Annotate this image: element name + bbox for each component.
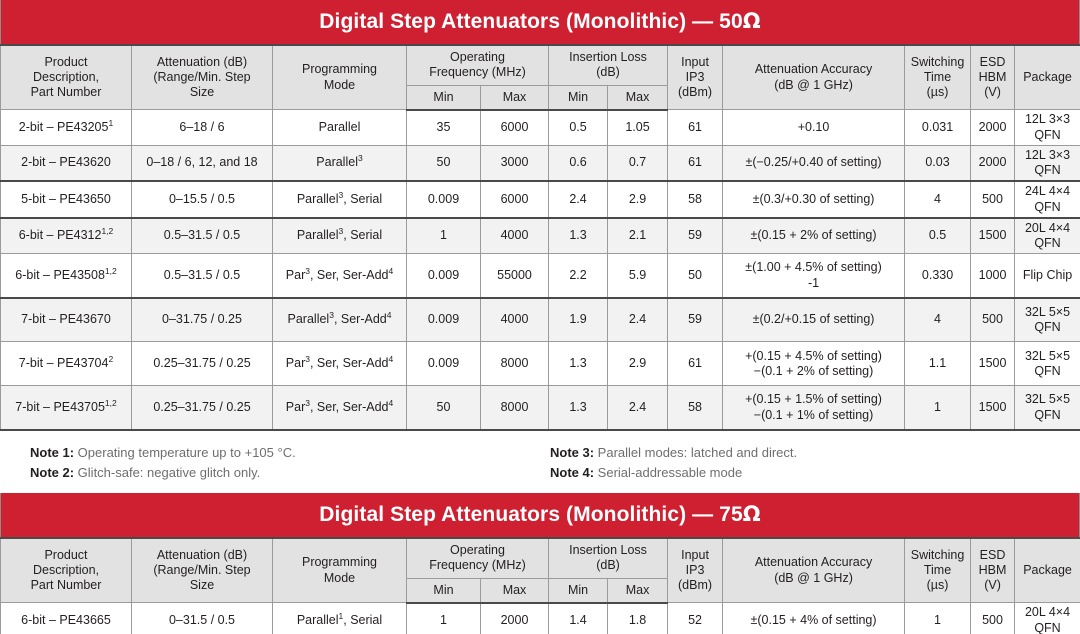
cell-switching-time: 0.5 xyxy=(905,218,971,254)
cell-attenuation-range: 6–18 / 6 xyxy=(132,110,273,146)
table-row: 5-bit – PE436500–15.5 / 0.5Parallel3, Se… xyxy=(1,181,1080,218)
col-header-input-ip3: Input IP3 (dBm) xyxy=(668,538,723,603)
cell-insertion-loss-max: 2.1 xyxy=(608,218,668,254)
footnote-marker: 1,2 xyxy=(101,226,113,236)
cell-programming-mode: Par3, Ser, Ser-Add4 xyxy=(273,254,407,298)
cell-switching-time: 1 xyxy=(905,386,971,430)
cell-esd-hbm: 1000 xyxy=(971,254,1015,298)
accuracy-line-2: −(0.1 + 1% of setting) xyxy=(726,408,901,423)
cell-attenuation-range: 0–18 / 6, 12, and 18 xyxy=(132,145,273,181)
cell-attenuation-accuracy: +(0.15 + 4.5% of setting)−(0.1 + 2% of s… xyxy=(723,342,905,386)
cell-part-number: 6-bit – PE435081,2 xyxy=(1,254,132,298)
cell-freq-max: 8000 xyxy=(481,342,549,386)
col-header-attenuation: Attenuation (dB) (Range/Min. Step Size xyxy=(132,45,273,110)
cell-insertion-loss-min: 1.3 xyxy=(549,218,608,254)
cell-part-number: 7-bit – PE437042 xyxy=(1,342,132,386)
footnote-marker: 3 xyxy=(339,190,344,200)
cell-input-ip3: 58 xyxy=(668,181,723,218)
footnote-marker: 4 xyxy=(388,354,393,364)
cell-esd-hbm: 1500 xyxy=(971,218,1015,254)
col-header-input-ip3: Input IP3 (dBm) xyxy=(668,45,723,110)
cell-switching-time: 0.03 xyxy=(905,145,971,181)
table-row: 7-bit – PE436700–31.75 / 0.25Parallel3, … xyxy=(1,298,1080,342)
col-header-il-min: Min xyxy=(549,85,608,110)
col-header-programming-mode: Programming Mode xyxy=(273,45,407,110)
cell-insertion-loss-min: 1.9 xyxy=(549,298,608,342)
cell-freq-max: 55000 xyxy=(481,254,549,298)
col-header-insertion-loss: Insertion Loss (dB) xyxy=(549,45,668,85)
cell-freq-min: 0.009 xyxy=(407,342,481,386)
cell-freq-max: 2000 xyxy=(481,603,549,634)
ohm-symbol-50: Ω xyxy=(743,9,761,33)
cell-input-ip3: 58 xyxy=(668,386,723,430)
col-header-il-max: Max xyxy=(608,85,668,110)
table-row: 6-bit – PE435081,20.5–31.5 / 0.5Par3, Se… xyxy=(1,254,1080,298)
cell-switching-time: 1.1 xyxy=(905,342,971,386)
accuracy-line-1: ±(0.3/+0.30 of setting) xyxy=(726,192,901,207)
col-header-product: Product Description, Part Number xyxy=(1,538,132,603)
note-line: Note 2: Glitch-safe: negative glitch onl… xyxy=(30,463,550,483)
cell-part-number: 7-bit – PE437051,2 xyxy=(1,386,132,430)
cell-freq-min: 0.009 xyxy=(407,298,481,342)
accuracy-line-1: ±(0.2/+0.15 of setting) xyxy=(726,312,901,327)
cell-insertion-loss-min: 1.4 xyxy=(549,603,608,634)
cell-input-ip3: 61 xyxy=(668,145,723,181)
footnote-marker: 4 xyxy=(387,310,392,320)
spec-table-75ohm: Product Description, Part Number Attenua… xyxy=(0,537,1080,634)
cell-programming-mode: Parallel3, Serial xyxy=(273,218,407,254)
footnote-marker: 4 xyxy=(388,398,393,408)
accuracy-line-1: +(0.15 + 1.5% of setting) xyxy=(726,392,901,407)
cell-package: 12L 3×3 QFN xyxy=(1015,145,1080,181)
cell-attenuation-range: 0.25–31.75 / 0.25 xyxy=(132,386,273,430)
note-text: Parallel modes: latched and direct. xyxy=(594,445,797,460)
cell-attenuation-accuracy: +0.10 xyxy=(723,110,905,146)
table-row: 2-bit – PE4320516–18 / 6Parallel3560000.… xyxy=(1,110,1080,146)
cell-insertion-loss-max: 2.9 xyxy=(608,181,668,218)
cell-switching-time: 1 xyxy=(905,603,971,634)
table-row: 6-bit – PE43121,20.5–31.5 / 0.5Parallel3… xyxy=(1,218,1080,254)
cell-freq-max: 8000 xyxy=(481,386,549,430)
col-header-freq-max: Max xyxy=(481,578,549,603)
note-text: Glitch-safe: negative glitch only. xyxy=(74,465,260,480)
cell-attenuation-accuracy: ±(0.2/+0.15 of setting) xyxy=(723,298,905,342)
col-header-freq-min: Min xyxy=(407,578,481,603)
cell-freq-max: 6000 xyxy=(481,110,549,146)
cell-attenuation-range: 0–31.75 / 0.25 xyxy=(132,298,273,342)
table-body-75ohm: 6-bit – PE436650–31.5 / 0.5Parallel1, Se… xyxy=(1,603,1080,634)
col-header-esd-hbm: ESD HBM (V) xyxy=(971,45,1015,110)
cell-attenuation-accuracy: ±(0.15 + 2% of setting) xyxy=(723,218,905,254)
note-text: Serial-addressable mode xyxy=(594,465,742,480)
ohm-symbol-75: Ω xyxy=(743,502,761,526)
footnote-marker: 1 xyxy=(339,611,344,621)
col-header-operating-frequency: Operating Frequency (MHz) xyxy=(407,538,549,578)
spec-table-50ohm: Product Description, Part Number Attenua… xyxy=(0,44,1080,431)
note-label: Note 3: xyxy=(550,445,594,460)
col-header-switching-time: Switching Time (µs) xyxy=(905,45,971,110)
cell-insertion-loss-min: 1.3 xyxy=(549,386,608,430)
col-header-freq-min: Min xyxy=(407,85,481,110)
cell-freq-max: 4000 xyxy=(481,218,549,254)
col-header-product: Product Description, Part Number xyxy=(1,45,132,110)
cell-freq-min: 50 xyxy=(407,386,481,430)
cell-attenuation-range: 0.25–31.75 / 0.25 xyxy=(132,342,273,386)
cell-esd-hbm: 500 xyxy=(971,298,1015,342)
cell-freq-max: 4000 xyxy=(481,298,549,342)
accuracy-line-1: ±(−0.25/+0.40 of setting) xyxy=(726,155,901,170)
cell-esd-hbm: 2000 xyxy=(971,110,1015,146)
table-row: 7-bit – PE4370420.25–31.75 / 0.25Par3, S… xyxy=(1,342,1080,386)
cell-freq-min: 1 xyxy=(407,603,481,634)
cell-esd-hbm: 2000 xyxy=(971,145,1015,181)
note-label: Note 1: xyxy=(30,445,74,460)
cell-insertion-loss-max: 1.05 xyxy=(608,110,668,146)
cell-input-ip3: 52 xyxy=(668,603,723,634)
table-head-50ohm: Product Description, Part Number Attenua… xyxy=(1,45,1080,110)
footnote-marker: 3 xyxy=(339,226,344,236)
cell-package: 12L 3×3 QFN xyxy=(1015,110,1080,146)
cell-insertion-loss-min: 2.4 xyxy=(549,181,608,218)
table-title-75ohm-text: Digital Step Attenuators (Monolithic) — … xyxy=(319,503,742,526)
cell-insertion-loss-max: 2.9 xyxy=(608,342,668,386)
accuracy-line-1: ±(0.15 + 4% of setting) xyxy=(726,613,901,628)
cell-esd-hbm: 1500 xyxy=(971,342,1015,386)
accuracy-line-1: ±(1.00 + 4.5% of setting) xyxy=(726,260,901,275)
accuracy-line-1: +(0.15 + 4.5% of setting) xyxy=(726,349,901,364)
cell-programming-mode: Parallel3, Serial xyxy=(273,181,407,218)
note-text: Operating temperature up to +105 °C. xyxy=(74,445,296,460)
accuracy-line-2: -1 xyxy=(726,276,901,291)
col-header-attenuation: Attenuation (dB) (Range/Min. Step Size xyxy=(132,538,273,603)
accuracy-line-1: ±(0.15 + 2% of setting) xyxy=(726,228,901,243)
note-line: Note 3: Parallel modes: latched and dire… xyxy=(550,443,1070,463)
col-header-attenuation-accuracy: Attenuation Accuracy (dB @ 1 GHz) xyxy=(723,538,905,603)
note-line: Note 4: Serial-addressable mode xyxy=(550,463,1070,483)
cell-attenuation-range: 0.5–31.5 / 0.5 xyxy=(132,254,273,298)
table-title-75ohm: Digital Step Attenuators (Monolithic) — … xyxy=(0,493,1080,537)
cell-package: 24L 4×4 QFN xyxy=(1015,181,1080,218)
cell-attenuation-accuracy: ±(1.00 + 4.5% of setting)-1 xyxy=(723,254,905,298)
col-header-switching-time: Switching Time (µs) xyxy=(905,538,971,603)
footnote-marker: 1,2 xyxy=(105,266,117,276)
footnote-marker: 4 xyxy=(388,266,393,276)
cell-package: 32L 5×5 QFN xyxy=(1015,386,1080,430)
cell-freq-min: 0.009 xyxy=(407,181,481,218)
col-header-operating-frequency: Operating Frequency (MHz) xyxy=(407,45,549,85)
cell-freq-max: 3000 xyxy=(481,145,549,181)
footnote-marker: 3 xyxy=(358,153,363,163)
notes-column-right: Note 3: Parallel modes: latched and dire… xyxy=(550,443,1070,483)
cell-switching-time: 0.031 xyxy=(905,110,971,146)
footnote-marker: 1,2 xyxy=(105,398,117,408)
table-title-50ohm-text: Digital Step Attenuators (Monolithic) — … xyxy=(319,10,742,33)
col-header-attenuation-accuracy: Attenuation Accuracy (dB @ 1 GHz) xyxy=(723,45,905,110)
cell-insertion-loss-max: 2.4 xyxy=(608,386,668,430)
cell-insertion-loss-max: 2.4 xyxy=(608,298,668,342)
footnote-marker: 3 xyxy=(305,266,310,276)
col-header-il-max: Max xyxy=(608,578,668,603)
col-header-programming-mode: Programming Mode xyxy=(273,538,407,603)
accuracy-line-1: +0.10 xyxy=(726,120,901,135)
cell-esd-hbm: 500 xyxy=(971,603,1015,634)
cell-attenuation-accuracy: ±(−0.25/+0.40 of setting) xyxy=(723,145,905,181)
col-header-insertion-loss: Insertion Loss (dB) xyxy=(549,538,668,578)
cell-switching-time: 0.330 xyxy=(905,254,971,298)
cell-input-ip3: 61 xyxy=(668,342,723,386)
cell-freq-min: 1 xyxy=(407,218,481,254)
note-label: Note 2: xyxy=(30,465,74,480)
cell-part-number: 6-bit – PE43665 xyxy=(1,603,132,634)
cell-freq-min: 0.009 xyxy=(407,254,481,298)
footnote-marker: 3 xyxy=(305,354,310,364)
note-line: Note 1: Operating temperature up to +105… xyxy=(30,443,550,463)
cell-switching-time: 4 xyxy=(905,181,971,218)
note-label: Note 4: xyxy=(550,465,594,480)
cell-attenuation-range: 0–31.5 / 0.5 xyxy=(132,603,273,634)
cell-insertion-loss-max: 0.7 xyxy=(608,145,668,181)
table-title-50ohm: Digital Step Attenuators (Monolithic) — … xyxy=(0,0,1080,44)
cell-attenuation-accuracy: +(0.15 + 1.5% of setting)−(0.1 + 1% of s… xyxy=(723,386,905,430)
cell-input-ip3: 59 xyxy=(668,298,723,342)
cell-programming-mode: Parallel3, Ser-Add4 xyxy=(273,298,407,342)
col-header-esd-hbm: ESD HBM (V) xyxy=(971,538,1015,603)
cell-input-ip3: 50 xyxy=(668,254,723,298)
col-header-freq-max: Max xyxy=(481,85,549,110)
datasheet-page: Digital Step Attenuators (Monolithic) — … xyxy=(0,0,1080,634)
footnote-marker: 2 xyxy=(108,354,113,364)
cell-insertion-loss-min: 1.3 xyxy=(549,342,608,386)
cell-attenuation-range: 0–15.5 / 0.5 xyxy=(132,181,273,218)
cell-insertion-loss-min: 2.2 xyxy=(549,254,608,298)
cell-input-ip3: 59 xyxy=(668,218,723,254)
cell-part-number: 2-bit – PE43620 xyxy=(1,145,132,181)
notes-50ohm: Note 1: Operating temperature up to +105… xyxy=(0,431,1080,493)
cell-insertion-loss-max: 1.8 xyxy=(608,603,668,634)
cell-package: Flip Chip xyxy=(1015,254,1080,298)
cell-freq-min: 50 xyxy=(407,145,481,181)
cell-freq-max: 6000 xyxy=(481,181,549,218)
cell-part-number: 6-bit – PE43121,2 xyxy=(1,218,132,254)
table-row: 2-bit – PE436200–18 / 6, 12, and 18Paral… xyxy=(1,145,1080,181)
table-row: 7-bit – PE437051,20.25–31.75 / 0.25Par3,… xyxy=(1,386,1080,430)
footnote-marker: 3 xyxy=(305,398,310,408)
cell-esd-hbm: 500 xyxy=(971,181,1015,218)
cell-programming-mode: Parallel xyxy=(273,110,407,146)
cell-package: 20L 4×4 QFN xyxy=(1015,603,1080,634)
cell-insertion-loss-min: 0.6 xyxy=(549,145,608,181)
cell-attenuation-accuracy: ±(0.15 + 4% of setting) xyxy=(723,603,905,634)
cell-part-number: 7-bit – PE43670 xyxy=(1,298,132,342)
table-head-75ohm: Product Description, Part Number Attenua… xyxy=(1,538,1080,603)
cell-input-ip3: 61 xyxy=(668,110,723,146)
cell-esd-hbm: 1500 xyxy=(971,386,1015,430)
cell-part-number: 2-bit – PE432051 xyxy=(1,110,132,146)
cell-part-number: 5-bit – PE43650 xyxy=(1,181,132,218)
table-row: 6-bit – PE436650–31.5 / 0.5Parallel1, Se… xyxy=(1,603,1080,634)
col-header-package: Package xyxy=(1015,538,1080,603)
cell-package: 32L 5×5 QFN xyxy=(1015,298,1080,342)
cell-attenuation-range: 0.5–31.5 / 0.5 xyxy=(132,218,273,254)
table-body-50ohm: 2-bit – PE4320516–18 / 6Parallel3560000.… xyxy=(1,110,1080,430)
cell-freq-min: 35 xyxy=(407,110,481,146)
accuracy-line-2: −(0.1 + 2% of setting) xyxy=(726,364,901,379)
cell-insertion-loss-min: 0.5 xyxy=(549,110,608,146)
col-header-il-min: Min xyxy=(549,578,608,603)
cell-package: 32L 5×5 QFN xyxy=(1015,342,1080,386)
cell-attenuation-accuracy: ±(0.3/+0.30 of setting) xyxy=(723,181,905,218)
col-header-package: Package xyxy=(1015,45,1080,110)
cell-package: 20L 4×4 QFN xyxy=(1015,218,1080,254)
footnote-marker: 3 xyxy=(329,310,334,320)
cell-insertion-loss-max: 5.9 xyxy=(608,254,668,298)
footnote-marker: 1 xyxy=(108,118,113,128)
cell-programming-mode: Parallel3 xyxy=(273,145,407,181)
cell-programming-mode: Par3, Ser, Ser-Add4 xyxy=(273,386,407,430)
notes-column-left: Note 1: Operating temperature up to +105… xyxy=(30,443,550,483)
cell-programming-mode: Par3, Ser, Ser-Add4 xyxy=(273,342,407,386)
cell-programming-mode: Parallel1, Serial xyxy=(273,603,407,634)
cell-switching-time: 4 xyxy=(905,298,971,342)
